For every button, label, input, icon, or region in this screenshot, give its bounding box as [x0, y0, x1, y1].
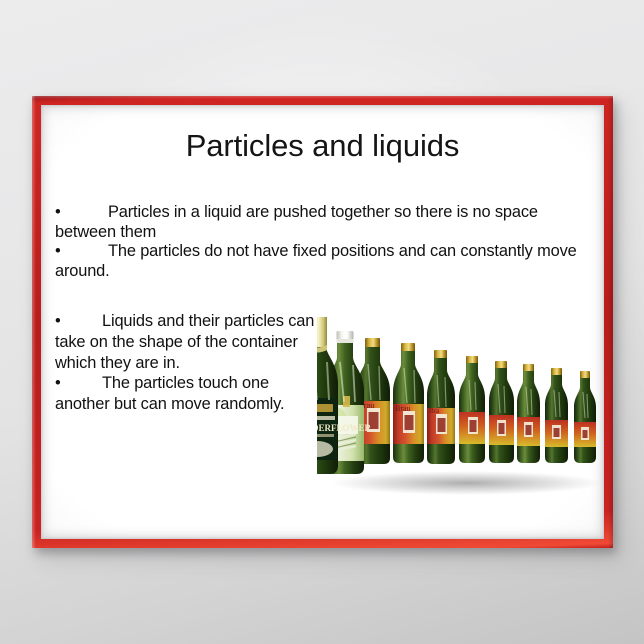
- bullet-marker-icon: •: [55, 203, 64, 223]
- bottle-8: [517, 364, 540, 463]
- bottle-5: Bra: [427, 350, 455, 464]
- page-title: Particles and liquids: [41, 129, 604, 162]
- bullet-item-4: •The particles touch one another but can…: [55, 373, 323, 415]
- bullet-text-3: Liquids and their particles can take on …: [55, 312, 314, 372]
- svg-text:ELDERFLOWER: ELDERFLOWER: [317, 423, 372, 433]
- row-of-glass-bottles-photo: Bra Brau: [317, 312, 604, 512]
- slide-surface: Particles and liquids •Particles in a li…: [41, 105, 604, 539]
- bottle-4: Brau: [393, 343, 424, 463]
- bullet-list-top: •Particles in a liquid are pushed togeth…: [55, 203, 599, 282]
- bullet-item-3: •Liquids and their particles can take on…: [55, 311, 323, 373]
- bullet-text-1: Particles in a liquid are pushed togethe…: [55, 203, 538, 241]
- svg-text:Brau: Brau: [395, 404, 411, 413]
- bullet-item-1: •Particles in a liquid are pushed togeth…: [55, 203, 599, 242]
- bottle-9: [545, 368, 568, 463]
- bullet-item-2: •The particles do not have fixed positio…: [55, 242, 599, 281]
- bullet-text-2: The particles do not have fixed position…: [55, 242, 577, 280]
- poster-frame: Particles and liquids •Particles in a li…: [32, 96, 613, 548]
- bottle-7: [489, 361, 514, 463]
- bullet-list-bottom: •Liquids and their particles can take on…: [55, 311, 323, 415]
- poster-scene: Particles and liquids •Particles in a li…: [0, 0, 644, 644]
- bullet-marker-icon: •: [55, 311, 64, 332]
- bullet-text-4: The particles touch one another but can …: [55, 374, 284, 413]
- bottle-6: [459, 356, 485, 463]
- bottle-10: [574, 371, 596, 463]
- svg-text:Bra: Bra: [429, 407, 440, 415]
- bullet-marker-icon: •: [55, 242, 64, 262]
- bullet-marker-icon: •: [55, 373, 64, 394]
